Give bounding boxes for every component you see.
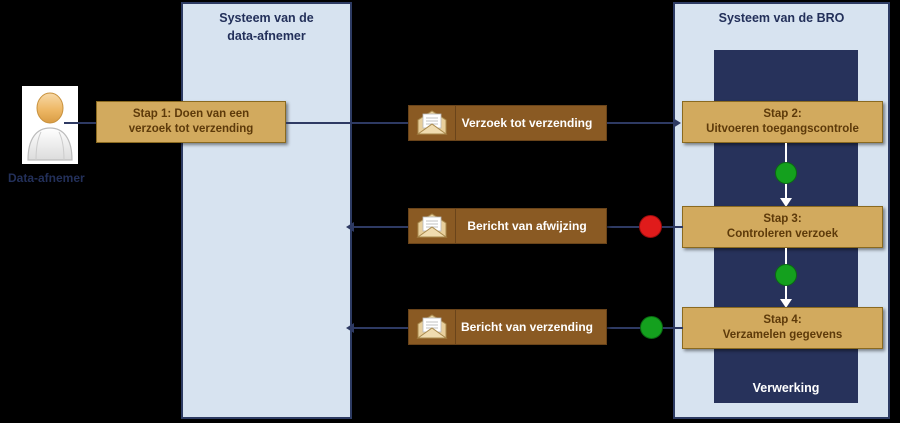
arrow-afwijzing-to-lane <box>346 222 354 232</box>
message-afwijzing-box[interactable]: Bericht van afwijzing <box>408 208 607 244</box>
open-envelope-icon <box>409 209 456 243</box>
message-verzending-label: Bericht van verzending <box>456 320 606 334</box>
open-envelope-icon <box>409 106 456 140</box>
status-dot-afwijzing <box>639 215 662 238</box>
connector-step1-to-verzoek <box>286 122 408 124</box>
open-envelope-icon-glyph <box>415 110 449 136</box>
swimlane-data-afnemer <box>181 2 352 419</box>
swimlane-data-afnemer-title: Systeem van de data-afnemer <box>181 9 352 45</box>
connector-verzoek-to-step2 <box>607 122 675 124</box>
step-1-box[interactable]: Stap 1: Doen van een verzoek tot verzend… <box>96 101 286 143</box>
open-envelope-icon <box>409 310 456 344</box>
status-dot-flow-2-3 <box>775 162 797 184</box>
open-envelope-icon-glyph <box>415 213 449 239</box>
connector-verzending-to-lane <box>352 327 408 329</box>
message-verzoek-box[interactable]: Verzoek tot verzending <box>408 105 607 141</box>
arrow-verzoek-to-step2 <box>673 118 681 128</box>
message-verzending-box[interactable]: Bericht van verzending <box>408 309 607 345</box>
step-3-box[interactable]: Stap 3: Controleren verzoek <box>682 206 883 248</box>
message-verzoek-label: Verzoek tot verzending <box>456 116 606 130</box>
message-afwijzing-label: Bericht van afwijzing <box>456 219 606 233</box>
status-dot-flow-3-4 <box>775 264 797 286</box>
process-diagram: Systeem van de data-afnemer Systeem van … <box>0 0 900 423</box>
processing-label: Verwerking <box>714 381 858 395</box>
open-envelope-icon-glyph <box>415 314 449 340</box>
step-2-box[interactable]: Stap 2: Uitvoeren toegangscontrole <box>682 101 883 143</box>
connector-afwijzing-to-lane <box>352 226 408 228</box>
step-4-box[interactable]: Stap 4: Verzamelen gegevens <box>682 307 883 349</box>
arrow-verzending-to-lane <box>346 323 354 333</box>
actor-card <box>22 86 78 164</box>
swimlane-bro-title: Systeem van de BRO <box>673 9 890 27</box>
status-dot-verzending <box>640 316 663 339</box>
person-icon <box>22 86 78 164</box>
actor-label: Data-afnemer <box>8 171 85 185</box>
